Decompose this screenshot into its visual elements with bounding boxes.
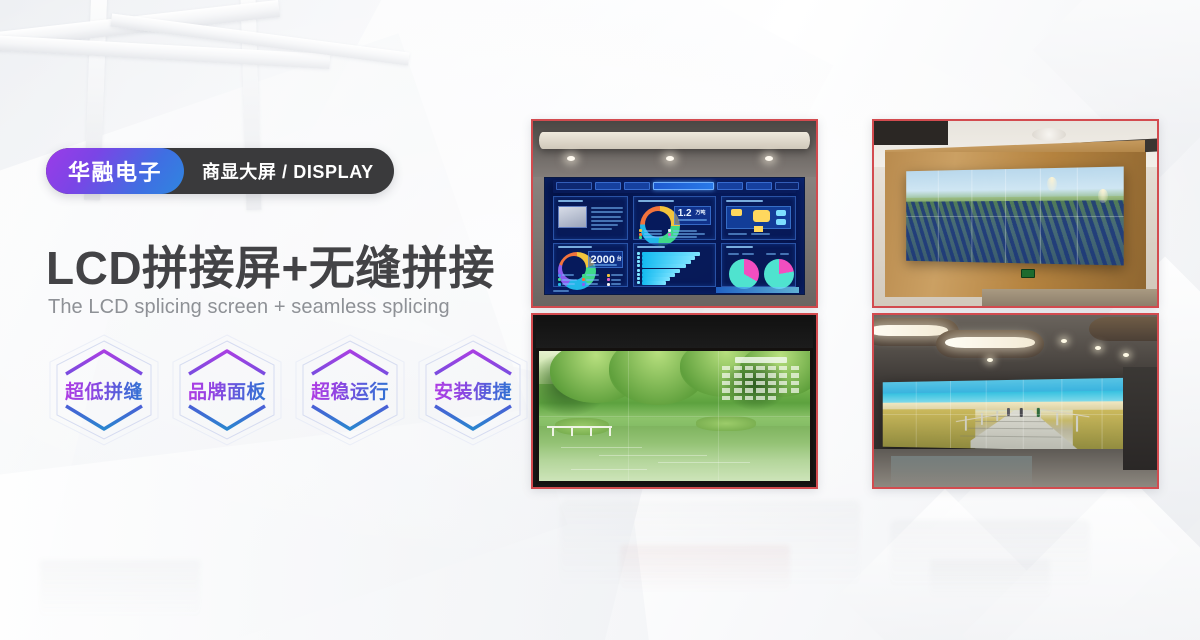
feature-badge-2: 品牌面板 bbox=[169, 334, 285, 446]
photo-beach-boardwalk-video-wall bbox=[872, 313, 1159, 489]
brand-badge: 华融电子 商显大屏 / DISPLAY bbox=[46, 148, 394, 194]
bg-diamond bbox=[962, 472, 1200, 640]
photo-solar-farm-video-wall bbox=[872, 119, 1159, 308]
bg-reflection bbox=[930, 560, 1050, 600]
left-content-column: 华融电子 商显大屏 / DISPLAY LCD拼接屏+无缝拼接 The LCD … bbox=[46, 0, 526, 640]
photo-dashboard-video-wall: 1.2 万吨 bbox=[531, 119, 818, 308]
feature-badge-label: 超稳运行 bbox=[311, 377, 389, 404]
brand-name: 华融电子 bbox=[46, 148, 184, 194]
feature-badge-list: 超低拼缝 品牌面板 超稳运行 bbox=[46, 334, 531, 446]
feature-badge-label: 品牌面板 bbox=[188, 377, 266, 404]
feature-badge-4: 安装便捷 bbox=[415, 334, 531, 446]
bg-reflection bbox=[890, 520, 1090, 590]
brand-category: 商显大屏 / DISPLAY bbox=[184, 148, 394, 194]
feature-badge-label: 安装便捷 bbox=[434, 377, 512, 404]
feature-badge-1: 超低拼缝 bbox=[46, 334, 162, 446]
page-title: LCD拼接屏+无缝拼接 bbox=[46, 232, 495, 298]
photo-willow-lake-video-wall bbox=[531, 313, 818, 489]
feature-badge-label: 超低拼缝 bbox=[65, 377, 143, 404]
bg-reflection bbox=[620, 545, 790, 595]
page-subtitle: The LCD splicing screen + seamless splic… bbox=[48, 296, 450, 319]
bg-diamond bbox=[839, 489, 1051, 640]
promo-banner: 华融电子 商显大屏 / DISPLAY LCD拼接屏+无缝拼接 The LCD … bbox=[0, 0, 1200, 640]
feature-badge-3: 超稳运行 bbox=[292, 334, 408, 446]
bg-reflection bbox=[560, 500, 860, 590]
